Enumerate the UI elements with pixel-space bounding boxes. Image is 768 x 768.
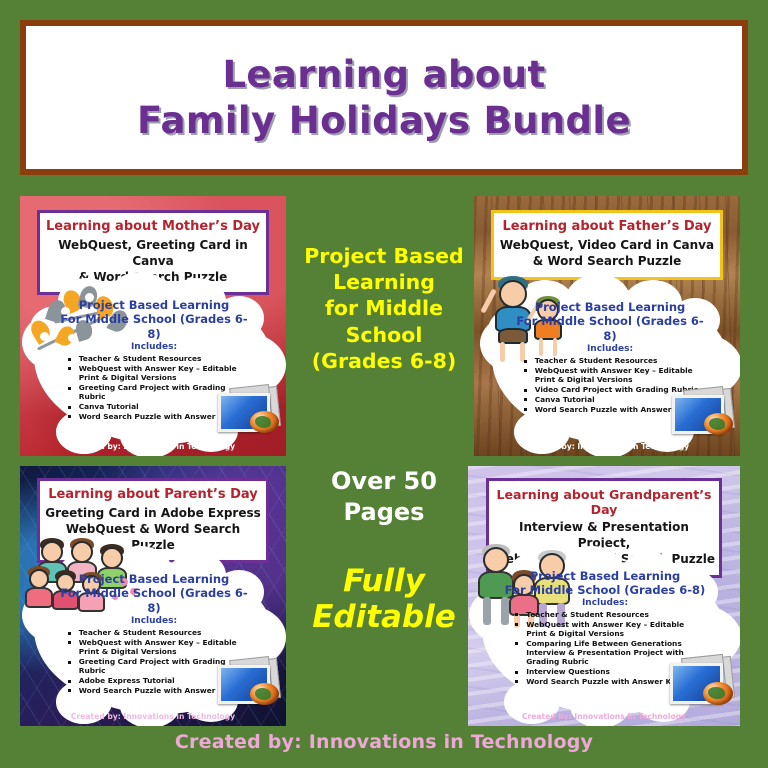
list-item: WebQuest with Answer Key – Editable Prin… — [68, 364, 252, 383]
card-title: Learning about Mother’s Day — [44, 219, 261, 235]
pbl-line-2: For Middle School (Grades 6-8) — [503, 583, 707, 597]
card-credit: Created by: Innovations in Technology — [20, 442, 286, 451]
list-item: WebQuest with Answer Key – Editable Prin… — [515, 620, 707, 639]
card-subtitle-1: WebQuest, Video Card in Canva — [498, 238, 715, 254]
card-subtitle-1: WebQuest, Greeting Card in Canva — [44, 238, 261, 270]
list-item: Teacher & Student Resources — [515, 610, 707, 619]
list-item: WebQuest with Answer Key – Editable Prin… — [524, 366, 708, 385]
center-pbl-block: Project Based Learning for Middle School… — [292, 243, 476, 374]
card-header-box: Learning about Father’s Day WebQuest, Vi… — [491, 210, 722, 280]
includes-label: Includes: — [56, 616, 252, 626]
pbl-line-1: Project Based Learning — [512, 300, 708, 314]
center-pages-line-1: Over 50 — [331, 466, 437, 497]
card-credit: Created by: Innovations in Technology — [20, 712, 286, 721]
center-pbl-line-2: Learning — [292, 269, 476, 295]
monitor-globe-icon — [672, 388, 734, 436]
monitor-globe-icon — [218, 386, 280, 434]
pbl-line-2: For Middle School (Grades 6-8) — [56, 312, 252, 341]
list-item: Teacher & Student Resources — [524, 356, 708, 365]
list-item: WebQuest with Answer Key – Editable Prin… — [68, 638, 252, 657]
card-title: Learning about Parent’s Day — [44, 487, 261, 503]
poster: Learning about Family Holidays Bundle Le… — [0, 0, 768, 768]
center-pbl-line-1: Project Based — [292, 243, 476, 269]
pbl-line-2: For Middle School (Grades 6-8) — [56, 586, 252, 615]
includes-label: Includes: — [512, 344, 708, 354]
center-text-column: Project Based Learning for Middle School… — [292, 185, 476, 745]
center-pages-line-2: Pages — [331, 497, 437, 528]
center-editable-line-1: Fully — [312, 563, 456, 600]
includes-label: Includes: — [56, 342, 252, 352]
list-item: Teacher & Student Resources — [68, 628, 252, 637]
card-title: Learning about Father’s Day — [498, 219, 715, 235]
includes-label: Includes: — [503, 598, 707, 608]
pbl-line-2: For Middle School (Grades 6-8) — [512, 314, 708, 343]
center-pbl-line-3: for Middle School — [292, 295, 476, 347]
pbl-line-1: Project Based Learning — [56, 298, 252, 312]
card-subtitle-1: Greeting Card in Adobe Express — [44, 506, 261, 522]
product-card-grandparents-day[interactable]: Learning about Grandparent’s Day Intervi… — [468, 466, 740, 726]
product-card-fathers-day[interactable]: Learning about Father’s Day WebQuest, Vi… — [474, 196, 740, 456]
card-title: Learning about Grandparent’s Day — [492, 487, 717, 517]
product-card-mothers-day[interactable]: Learning about Mother’s Day WebQuest, Gr… — [20, 196, 286, 456]
title-line-1: Learning about — [222, 52, 545, 97]
monitor-globe-icon — [218, 658, 280, 706]
center-editable-line-2: Editable — [312, 599, 456, 636]
card-credit: Created by: Innovations in Technology — [474, 442, 740, 451]
title-line-2: Family Holidays Bundle — [137, 98, 631, 143]
center-editable-block: Fully Editable — [312, 563, 456, 636]
card-subtitle-2: & Word Search Puzzle — [498, 254, 715, 270]
pbl-line-1: Project Based Learning — [503, 569, 707, 583]
center-pages-block: Over 50 Pages — [331, 466, 437, 528]
card-credit: Created by: Innovations in Technology — [468, 712, 740, 721]
title-banner: Learning about Family Holidays Bundle — [20, 20, 748, 175]
pbl-line-1: Project Based Learning — [56, 572, 252, 586]
center-pbl-line-4: (Grades 6-8) — [292, 348, 476, 374]
poster-credit: Created by: Innovations in Technology — [0, 731, 768, 753]
list-item: Teacher & Student Resources — [68, 354, 252, 363]
monitor-globe-icon — [670, 656, 734, 706]
product-card-parents-day[interactable]: Learning about Parent’s Day Greeting Car… — [20, 466, 286, 726]
